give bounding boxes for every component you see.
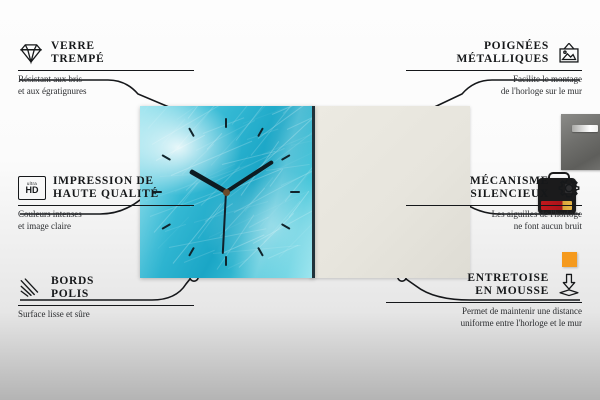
- spacer-arrow-icon: [556, 272, 582, 298]
- divider: [18, 70, 194, 71]
- feature-heading: VERRETREMPÉ: [18, 40, 194, 66]
- ultra-hd-badge-icon: ultra HD: [18, 176, 46, 200]
- feature-impression-haute-qualite: ultra HD IMPRESSION DEHAUTE QUALITÉ Coul…: [18, 175, 194, 232]
- feature-poignees-metalliques: POIGNÉESMÉTALLIQUES Facilite le montaged…: [406, 40, 582, 97]
- divider: [406, 70, 582, 71]
- feature-entretoise-en-mousse: ENTRETOISEEN MOUSSE Permet de maintenir …: [386, 272, 582, 329]
- gear-icon: [556, 175, 582, 201]
- divider: [406, 205, 582, 206]
- foam-spacer: [562, 252, 577, 267]
- feature-description: Surface lisse et sûre: [18, 309, 194, 321]
- feature-title: ENTRETOISEEN MOUSSE: [467, 272, 549, 298]
- clock-tick: [226, 191, 300, 193]
- feature-description: Les aiguilles de l'horlogene font aucun …: [406, 209, 582, 232]
- feature-title: VERRETREMPÉ: [51, 40, 104, 66]
- feature-bords-polis: BORDSPOLIS Surface lisse et sûre: [18, 275, 194, 321]
- feature-heading: ENTRETOISEEN MOUSSE: [386, 272, 582, 298]
- feature-title: BORDSPOLIS: [51, 275, 94, 301]
- feature-title: POIGNÉESMÉTALLIQUES: [457, 40, 549, 66]
- feature-description: Permet de maintenir une distanceuniforme…: [386, 306, 582, 329]
- feature-heading: ultra HD IMPRESSION DEHAUTE QUALITÉ: [18, 175, 194, 201]
- feature-heading: MÉCANISMESILENCIEUX: [406, 175, 582, 201]
- feature-description: Résistant aux briset aux égratignures: [18, 74, 194, 97]
- feature-heading: BORDSPOLIS: [18, 275, 194, 301]
- feature-description: Couleurs intenseset image claire: [18, 209, 194, 232]
- divider: [386, 302, 582, 303]
- divider: [18, 305, 194, 306]
- divider: [18, 205, 194, 206]
- feature-heading: POIGNÉESMÉTALLIQUES: [406, 40, 582, 66]
- feature-mecanisme-silencieux: MÉCANISMESILENCIEUX Les aiguilles de l'h…: [406, 175, 582, 232]
- infographic-stage: VERRETREMPÉ Résistant aux briset aux égr…: [0, 0, 600, 400]
- metal-hanger: [561, 114, 600, 170]
- feature-verre-trempe: VERRETREMPÉ Résistant aux briset aux égr…: [18, 40, 194, 97]
- center-cap: [223, 189, 230, 196]
- polished-edges-icon: [18, 275, 44, 301]
- picture-frame-icon: [556, 40, 582, 66]
- clock-tick: [225, 127, 264, 192]
- feature-description: Facilite le montagede l'horloge sur le m…: [406, 74, 582, 97]
- clock-tick: [225, 118, 227, 192]
- feature-title: IMPRESSION DEHAUTE QUALITÉ: [53, 175, 159, 201]
- feature-title: MÉCANISMESILENCIEUX: [470, 175, 549, 201]
- diamond-icon: [18, 40, 44, 66]
